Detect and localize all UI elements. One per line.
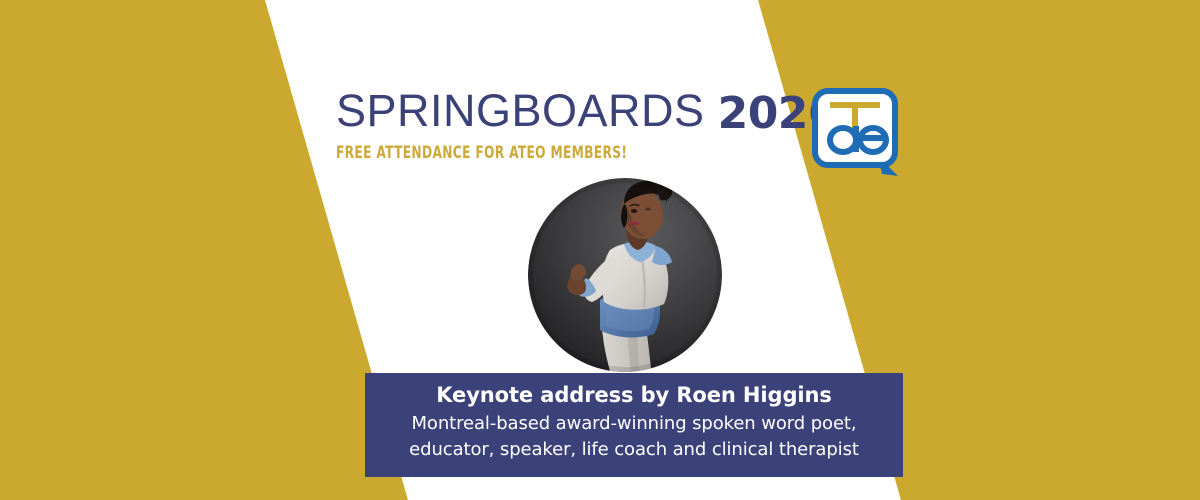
ateo-logo[interactable] bbox=[812, 88, 904, 180]
speaker-portrait bbox=[528, 178, 722, 372]
event-title: SPRINGBOARDS bbox=[336, 88, 705, 133]
keynote-description-line2: educator, speaker, life coach and clinic… bbox=[379, 437, 889, 463]
keynote-caption-box: Keynote address by Roen Higgins Montreal… bbox=[365, 373, 903, 477]
event-subtitle: FREE ATTENDANCE FOR ATEO MEMBERS! bbox=[336, 145, 688, 162]
headline-block: SPRINGBOARDS 2026 FREE ATTENDANCE FOR AT… bbox=[336, 88, 776, 162]
event-title-row: SPRINGBOARDS 2026 bbox=[336, 88, 776, 134]
event-banner: SPRINGBOARDS 2026 FREE ATTENDANCE FOR AT… bbox=[0, 0, 1200, 500]
keynote-title: Keynote address by Roen Higgins bbox=[379, 382, 889, 410]
keynote-description-line1: Montreal-based award-winning spoken word… bbox=[379, 411, 889, 437]
